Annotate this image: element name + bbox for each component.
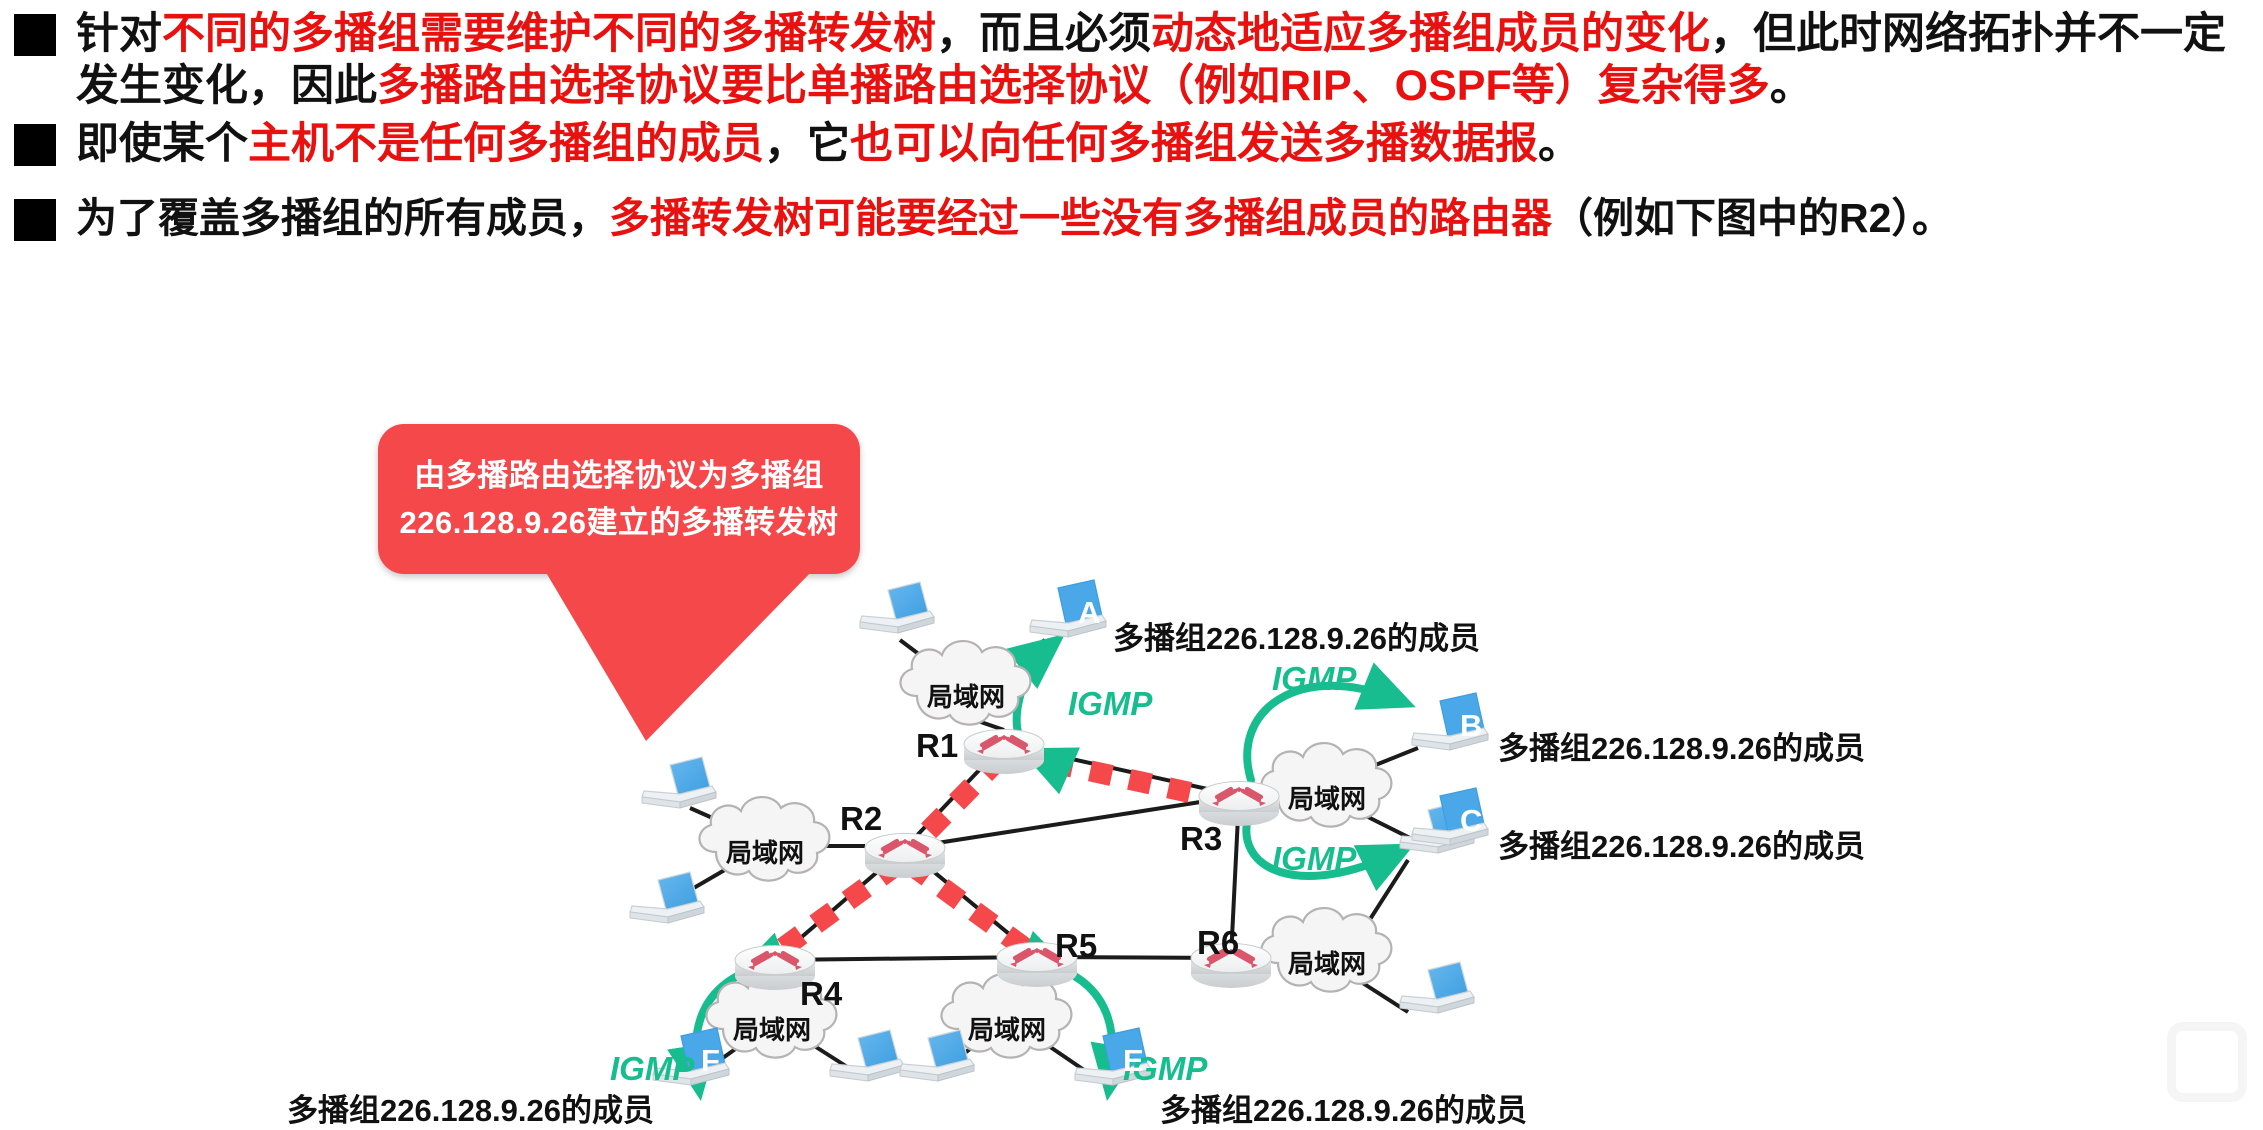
bullet-1-seg-3: 动态地适应多播组成员的变化	[1151, 10, 1710, 58]
router-label-R5: R5	[1055, 927, 1097, 965]
bullet-2-seg-1: 主机不是任何多播组的成员	[248, 120, 764, 168]
bullet-1-seg-6: 。	[1770, 62, 1813, 110]
router-label-R4: R4	[800, 975, 842, 1013]
router-label-R6: R6	[1197, 924, 1239, 962]
bullet-2-seg-0: 即使某个	[76, 120, 248, 168]
cloud-label-lan-r1: 局域网	[927, 677, 1005, 714]
bullet-1-seg-5: 多播路由选择协议要比单播路由选择协议（例如RIP、OSPF等）复杂得多	[377, 62, 1770, 110]
member-label-E: 多播组226.128.9.26的成员	[1160, 1085, 1527, 1130]
bullet-1-seg-2: ，而且必须	[936, 10, 1151, 58]
host-letter-B: B	[1460, 708, 1482, 744]
host-letter-A: A	[1078, 595, 1100, 631]
igmp-label-F: IGMP	[610, 1050, 694, 1088]
host-letter-F: F	[701, 1043, 720, 1079]
laptop-r6-bottom	[1400, 962, 1474, 1013]
callout-line-1: 由多播路由选择协议为多播组	[414, 452, 824, 499]
cloud-label-lan-r4: 局域网	[733, 1010, 811, 1047]
host-letter-E: E	[1123, 1043, 1144, 1079]
callout-multicast-tree: 由多播路由选择协议为多播组 226.128.9.26建立的多播转发树	[378, 424, 860, 574]
igmp-label-A: IGMP	[1068, 685, 1152, 723]
bullet-marker-icon	[14, 199, 56, 241]
router-R1[interactable]	[964, 730, 1044, 775]
bullet-2-seg-4: 。	[1538, 120, 1581, 168]
router-label-R1: R1	[916, 727, 958, 765]
cloud-label-lan-r3: 局域网	[1288, 779, 1366, 816]
callout-line-2: 226.128.9.26建立的多播转发树	[399, 499, 838, 546]
topology-svg	[0, 340, 2263, 1110]
watermark-icon	[2167, 1022, 2247, 1102]
bullet-text-1: 针对不同的多播组需要维护不同的多播转发树，而且必须动态地适应多播组成员的变化，但…	[76, 8, 2251, 113]
cloud-label-lan-r6: 局域网	[1288, 944, 1366, 981]
bullet-marker-icon	[14, 14, 56, 56]
bullet-3-seg-0: 为了覆盖多播组的所有成员，	[76, 195, 609, 241]
callout-tail	[518, 559, 848, 759]
member-label-B: 多播组226.128.9.26的成员	[1498, 723, 1865, 768]
laptop-r1-plain	[860, 582, 934, 633]
cloud-label-lan-r2: 局域网	[726, 833, 804, 870]
bullet-2-seg-2: ，它	[764, 120, 850, 168]
cloud-label-lan-r5: 局域网	[968, 1010, 1046, 1047]
bullet-marker-icon	[14, 124, 56, 166]
bullet-item-2: 即使某个主机不是任何多播组的成员，它也可以向任何多播组发送多播数据报。	[14, 118, 2254, 170]
router-label-R2: R2	[840, 800, 882, 838]
laptop-r2-bottom	[630, 872, 704, 923]
member-label-A: 多播组226.128.9.26的成员	[1113, 613, 1480, 658]
laptop-r4-right	[830, 1030, 904, 1081]
network-topology-diagram: 由多播路由选择协议为多播组 226.128.9.26建立的多播转发树 A B C…	[0, 340, 2263, 1110]
bullet-text-3: 为了覆盖多播组的所有成员，多播转发树可能要经过一些没有多播组成员的路由器（例如下…	[76, 193, 1953, 243]
bullet-3-seg-1: 多播转发树可能要经过一些没有多播组成员的路由器	[609, 195, 1552, 241]
igmp-label-C: IGMP	[1272, 840, 1356, 878]
bullet-item-1: 针对不同的多播组需要维护不同的多播转发树，而且必须动态地适应多播组成员的变化，但…	[14, 8, 2254, 113]
igmp-label-B: IGMP	[1272, 660, 1356, 698]
member-label-C: 多播组226.128.9.26的成员	[1498, 821, 1865, 866]
multicast-forwarding-tree	[772, 754, 1234, 956]
router-R2[interactable]	[865, 834, 945, 879]
bullet-item-3: 为了覆盖多播组的所有成员，多播转发树可能要经过一些没有多播组成员的路由器（例如下…	[14, 193, 2263, 243]
bullet-text-2: 即使某个主机不是任何多播组的成员，它也可以向任何多播组发送多播数据报。	[76, 118, 1581, 170]
bullet-2-seg-3: 也可以向任何多播组发送多播数据报	[850, 120, 1538, 168]
bullet-3-seg-2: （例如下图中的R2）。	[1552, 195, 1953, 241]
bullet-1-seg-1: 不同的多播组需要维护不同的多播转发树	[162, 10, 936, 58]
host-letter-C: C	[1460, 803, 1482, 839]
bullet-1-seg-0: 针对	[76, 10, 162, 58]
laptop-r2-top	[642, 757, 716, 808]
bullet-list: 针对不同的多播组需要维护不同的多播转发树，而且必须动态地适应多播组成员的变化，但…	[0, 0, 2263, 345]
member-label-F: 多播组226.128.9.26的成员	[287, 1085, 654, 1130]
router-label-R3: R3	[1180, 820, 1222, 858]
